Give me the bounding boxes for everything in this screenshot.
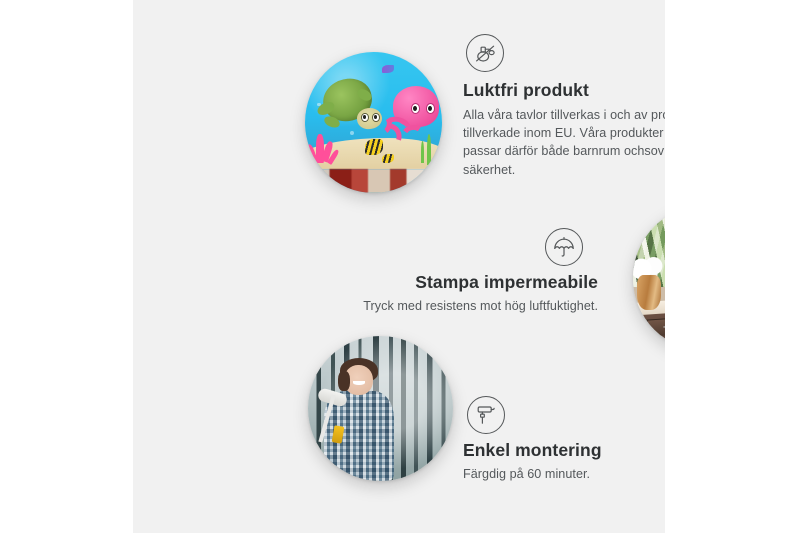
feature-assembly: Enkel montering Färgdig på 60 minuter. bbox=[463, 396, 665, 483]
umbrella-icon bbox=[545, 228, 583, 266]
paint-roller-glyph bbox=[474, 403, 498, 427]
feature-title: Stampa impermeabile bbox=[348, 272, 598, 294]
feature-title: Enkel montering bbox=[463, 440, 665, 462]
vanity-drawer bbox=[647, 315, 665, 336]
sea-foreground-strip bbox=[305, 169, 442, 193]
seaweed-icon bbox=[427, 134, 431, 165]
octopus-eye-icon bbox=[411, 103, 421, 114]
vase bbox=[637, 275, 660, 310]
drawer-handle bbox=[663, 324, 665, 327]
turtle-eye-icon bbox=[361, 113, 369, 122]
feature-odorless: Luktfri produkt Alla våra tavlor tillver… bbox=[463, 34, 665, 179]
content-panel: Luktfri produkt Alla våra tavlor tillver… bbox=[133, 0, 665, 533]
product-image-woman-forest bbox=[308, 336, 453, 481]
fish-icon bbox=[365, 139, 383, 155]
feature-description: Tryck med resistens mot hög luftfuktighe… bbox=[348, 297, 598, 315]
no-fragrance-glyph bbox=[472, 40, 498, 66]
woman-hair bbox=[338, 371, 350, 391]
product-image-underwater bbox=[305, 52, 442, 193]
octopus-eye-icon bbox=[426, 103, 436, 114]
product-image-bathroom bbox=[633, 205, 665, 351]
feature-waterproof: Stampa impermeabile Tryck med resistens … bbox=[348, 228, 598, 315]
paint-roller-icon bbox=[467, 396, 505, 434]
feature-description: Alla våra tavlor tillverkas i och av pro… bbox=[463, 106, 665, 179]
bathroom-photo bbox=[633, 205, 665, 351]
umbrella-glyph bbox=[552, 235, 576, 259]
underwater-illustration bbox=[305, 52, 442, 193]
feature-title: Luktfri produkt bbox=[463, 80, 665, 102]
woman-forest-photo bbox=[308, 336, 453, 481]
feature-icon-wrap bbox=[348, 228, 598, 266]
feature-description: Färgdig på 60 minuter. bbox=[463, 465, 665, 483]
product-feature-banner: Luktfri produkt Alla våra tavlor tillver… bbox=[0, 0, 800, 533]
no-fragrance-icon bbox=[466, 34, 504, 72]
